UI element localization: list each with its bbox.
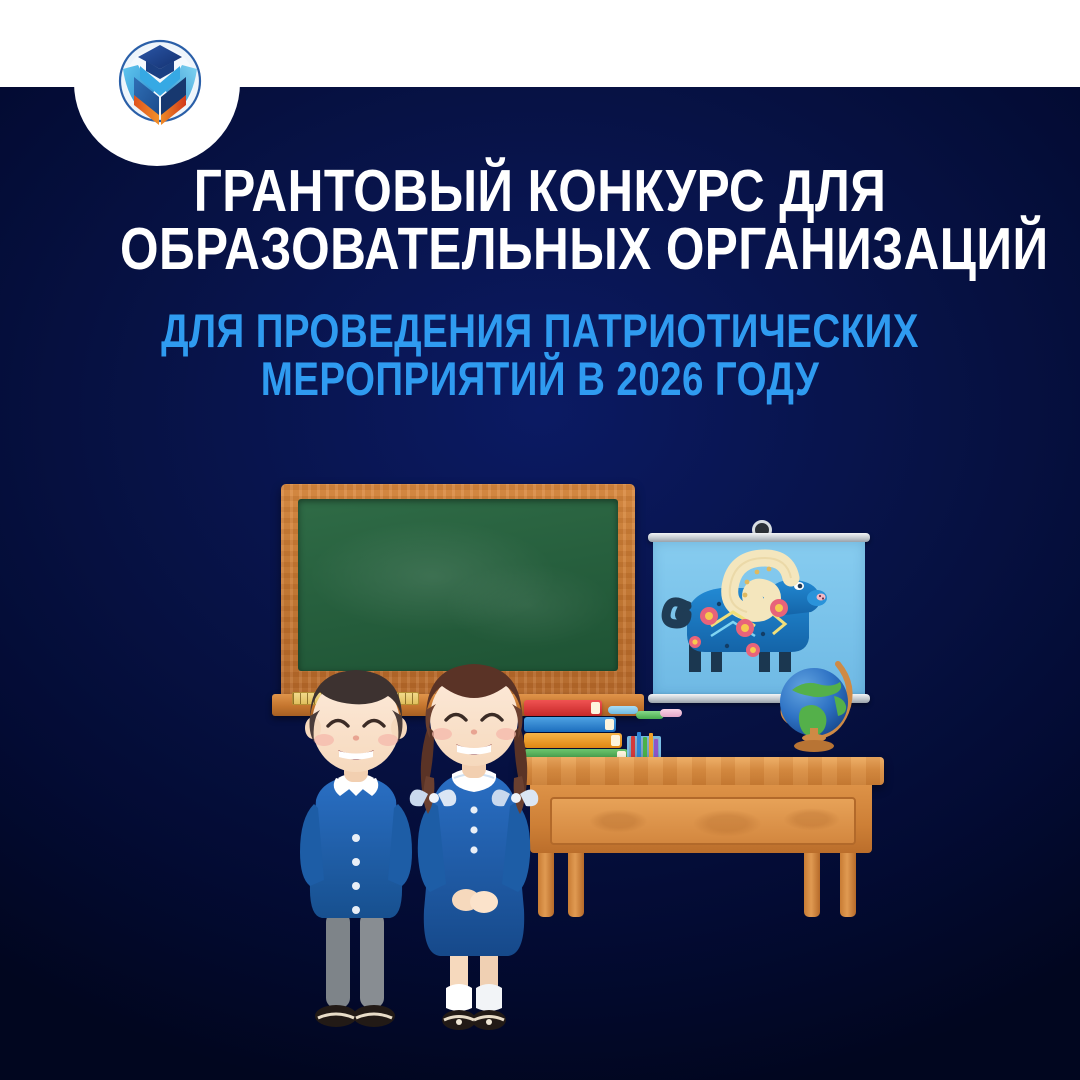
desk-leg [840,853,856,917]
chalk-blue [608,706,638,714]
desk-leg [804,853,820,917]
poster-canvas: ГРАНТОВЫЙ КОНКУРС ДЛЯ ОБРАЗОВАТЕЛЬНЫХ ОР… [0,0,1080,1080]
desk-body [530,785,872,853]
poster-top-roller [648,533,870,542]
chalkboard-surface [298,499,618,671]
desk-leg [568,853,584,917]
globe-icon [772,650,862,754]
classroom-illustration [0,0,1080,1080]
desk-drawer-panel [550,797,856,845]
desk-top [518,757,884,785]
chalk-pink [660,709,682,717]
girl-student [404,648,544,1066]
